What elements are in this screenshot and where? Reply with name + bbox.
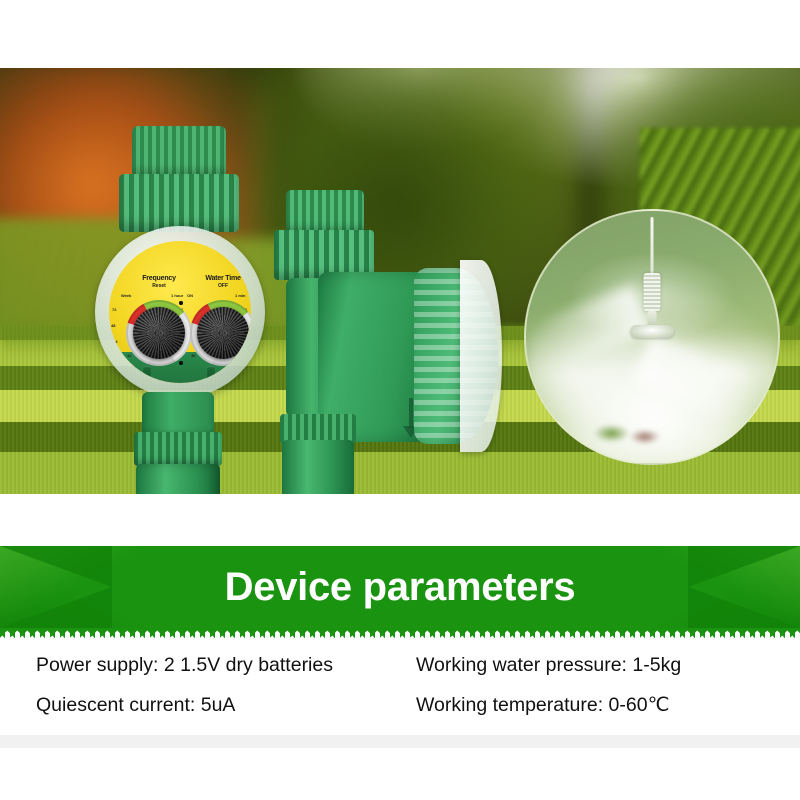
indicator-dot-top	[179, 301, 183, 305]
outlet-barrel	[136, 464, 220, 494]
spec-working-water-pressure: Working water pressure: 1-5kg	[416, 646, 681, 684]
dial-face-yellow: Frequency Reset Week 1 hour 72 48 24 12 …	[109, 241, 251, 383]
banner-zigzag-edge	[0, 628, 800, 638]
device-parameters-list: Power supply: 2 1.5V dry batteries Worki…	[0, 646, 800, 726]
spec-row: Power supply: 2 1.5V dry batteries Worki…	[0, 646, 800, 684]
inlet-cap	[132, 126, 226, 176]
nozzle-stem	[651, 217, 654, 279]
button-slot-left[interactable]	[143, 366, 151, 382]
water-time-tick-30: 30	[191, 353, 195, 358]
spec-power-supply: Power supply: 2 1.5V dry batteries	[36, 646, 333, 684]
frequency-tick-72: 72	[112, 307, 116, 312]
spec-working-temperature: Working temperature: 0-60℃	[416, 686, 669, 724]
water-time-dial-title: Water Time	[185, 275, 251, 282]
frequency-label-1hour: 1 hour	[171, 293, 183, 298]
hero-product-photo: Frequency Reset Week 1 hour 72 48 24 12 …	[0, 68, 800, 494]
frequency-tick-24: 24	[113, 339, 117, 344]
nozzle-filter-body	[644, 273, 661, 311]
outlet-collar-nut	[134, 432, 222, 466]
section-banner: Device parameters	[0, 546, 800, 638]
section-title: Device parameters	[0, 546, 800, 628]
water-time-dial-subtitle: OFF	[185, 284, 251, 289]
water-time-label-on: ON	[187, 293, 193, 298]
side-inlet-cap	[286, 190, 364, 232]
frequency-label-week: Week	[121, 293, 131, 298]
indicator-dot-bottom	[179, 361, 183, 365]
frequency-knob[interactable]	[133, 307, 185, 359]
inset-foliage	[584, 407, 676, 455]
nozzle-spray-head	[630, 325, 674, 338]
spec-quiescent-current: Quiescent current: 5uA	[36, 686, 235, 724]
device-timer-side-view	[274, 190, 494, 494]
side-outlet-barrel	[282, 440, 354, 494]
dial-housing-ring: Frequency Reset Week 1 hour 72 48 24 12 …	[95, 226, 265, 398]
water-time-knob[interactable]	[197, 307, 249, 359]
side-dial-clear-rim	[460, 260, 502, 452]
frequency-tick-48: 48	[111, 323, 115, 328]
button-slot-right[interactable]	[207, 366, 215, 382]
outlet-neck	[142, 392, 214, 436]
device-dual-dial-timer: Frequency Reset Week 1 hour 72 48 24 12 …	[104, 126, 254, 494]
inlet-collar-nut	[119, 174, 239, 232]
spec-row: Quiescent current: 5uA Working temperatu…	[0, 686, 800, 724]
frequency-tick-12: 12	[127, 353, 131, 358]
spray-inset-circle	[524, 209, 780, 465]
water-time-label-1min: 1 min	[235, 293, 245, 298]
footer-separator-band	[0, 735, 800, 748]
banner-ribbon: Device parameters	[0, 546, 800, 628]
product-detail-page: Frequency Reset Week 1 hour 72 48 24 12 …	[0, 0, 800, 800]
